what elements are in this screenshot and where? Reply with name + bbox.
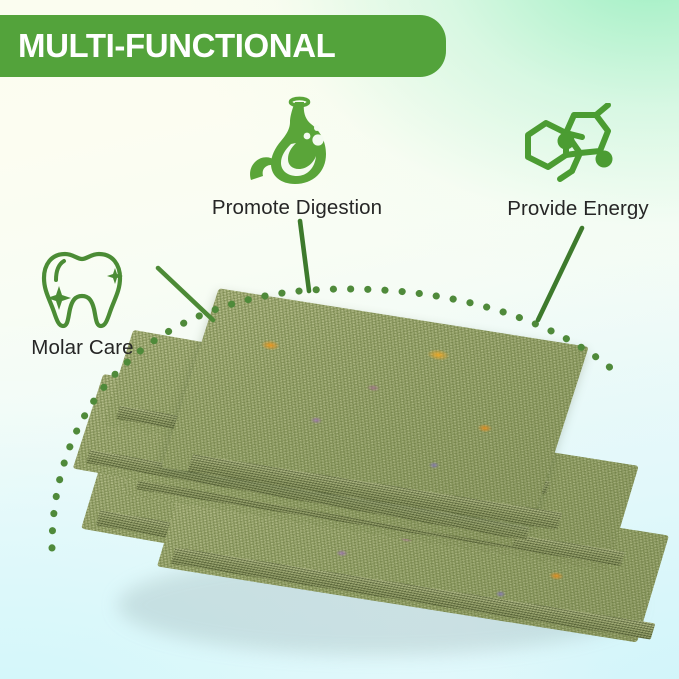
feature-label-provide-energy: Provide Energy xyxy=(490,197,666,221)
poster-canvas: MULTI-FUNCTIONAL xyxy=(0,0,679,679)
bubble-icon xyxy=(314,125,320,131)
tooth-icon xyxy=(35,246,131,332)
atom-dot-icon xyxy=(558,133,575,150)
bubble-icon xyxy=(312,134,323,145)
banner-multi-functional: MULTI-FUNCTIONAL xyxy=(0,15,446,77)
feature-label-promote-digestion: Promote Digestion xyxy=(197,196,397,220)
feature-promote-digestion: Promote Digestion xyxy=(197,96,397,220)
atom-dot-icon xyxy=(596,151,613,168)
banner-title: MULTI-FUNCTIONAL xyxy=(18,27,335,65)
molecule-icon xyxy=(508,103,648,185)
feature-provide-energy: Provide Energy xyxy=(490,103,666,221)
product-image xyxy=(78,305,678,673)
bubble-icon xyxy=(304,133,311,140)
digestion-connector-line xyxy=(300,221,309,291)
feature-label-molar-care: Molar Care xyxy=(0,336,165,360)
stomach-icon xyxy=(241,96,353,191)
feature-molar-care: Molar Care xyxy=(0,246,165,360)
